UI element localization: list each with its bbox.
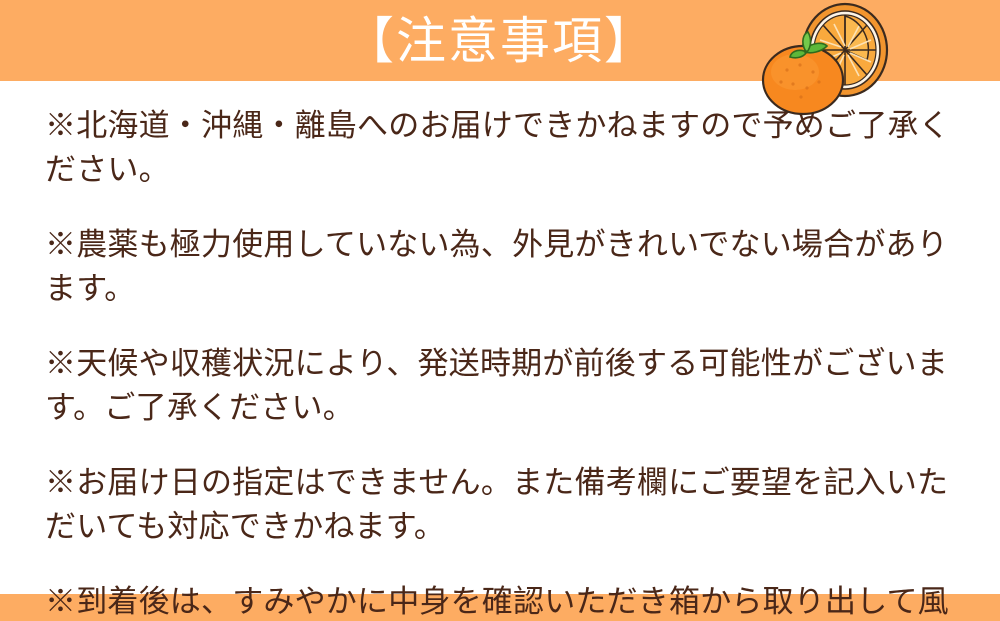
- notice-item: ※農薬も極力使用していない為、外見がきれいでない場合があります。: [45, 223, 965, 311]
- notice-list: ※北海道・沖縄・離島へのお届けできかねますので予めご了承ください。 ※農薬も極力…: [45, 104, 965, 621]
- orange-fruit-illustration: [755, 2, 895, 120]
- notice-banner: 【注意事項】: [0, 0, 1000, 621]
- notice-item: ※天候や収穫状況により、発送時期が前後する可能性がございます。ご了承ください。: [45, 342, 965, 430]
- notice-item: ※お届け日の指定はできません。また備考欄にご要望を記入いただいても対応できかねま…: [45, 461, 965, 549]
- notice-item: ※到着後は、すみやかに中身を確認いただき箱から取り出して風通しの良い冷暗所にて保…: [45, 580, 965, 621]
